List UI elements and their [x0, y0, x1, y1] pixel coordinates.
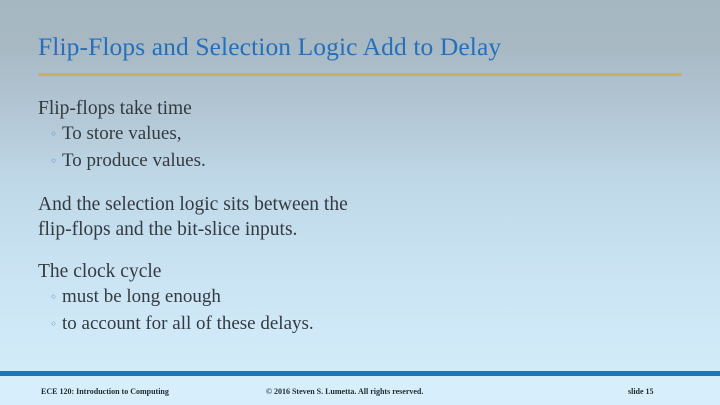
footer-course-label: ECE 120: Introduction to Computing	[41, 386, 169, 397]
list-item-label: to account for all of these delays.	[62, 311, 314, 336]
body-group-1: Flip-flops take time ◦ To store values, …	[38, 96, 658, 175]
footer-copyright-label: © 2016 Steven S. Lumetta. All rights res…	[266, 386, 423, 397]
list-item: ◦ To produce values.	[38, 148, 658, 175]
slide-canvas: Flip-Flops and Selection Logic Add to De…	[0, 0, 720, 405]
list-item: ◦ must be long enough	[38, 284, 658, 311]
hollow-circle-bullet-icon: ◦	[50, 149, 62, 174]
hollow-circle-bullet-icon: ◦	[50, 312, 62, 337]
footer-slide-number: slide 15	[628, 386, 654, 397]
spacer	[38, 179, 658, 192]
page-title: Flip-Flops and Selection Logic Add to De…	[38, 32, 684, 62]
bullet-heading-the-clock-cycle: The clock cycle	[38, 259, 658, 284]
title-block: Flip-Flops and Selection Logic Add to De…	[38, 32, 684, 62]
list-item-label: must be long enough	[62, 284, 221, 309]
slide-body: Flip-flops take time ◦ To store values, …	[38, 96, 658, 342]
paragraph-line-1: And the selection logic sits between the	[38, 192, 658, 217]
list-item: ◦ To store values,	[38, 121, 658, 148]
bullet-heading-flip-flops-take-time: Flip-flops take time	[38, 96, 658, 121]
paragraph-line-2: flip-flops and the bit-slice inputs.	[38, 217, 658, 242]
body-group-2: And the selection logic sits between the…	[38, 192, 658, 242]
list-item-label: To produce values.	[62, 148, 206, 173]
hollow-circle-bullet-icon: ◦	[50, 285, 62, 310]
spacer	[38, 246, 658, 259]
body-group-3: The clock cycle ◦ must be long enough ◦ …	[38, 259, 658, 338]
list-item: ◦ to account for all of these delays.	[38, 311, 658, 338]
list-item-label: To store values,	[62, 121, 182, 146]
hollow-circle-bullet-icon: ◦	[50, 122, 62, 147]
title-divider-rule	[38, 73, 682, 76]
